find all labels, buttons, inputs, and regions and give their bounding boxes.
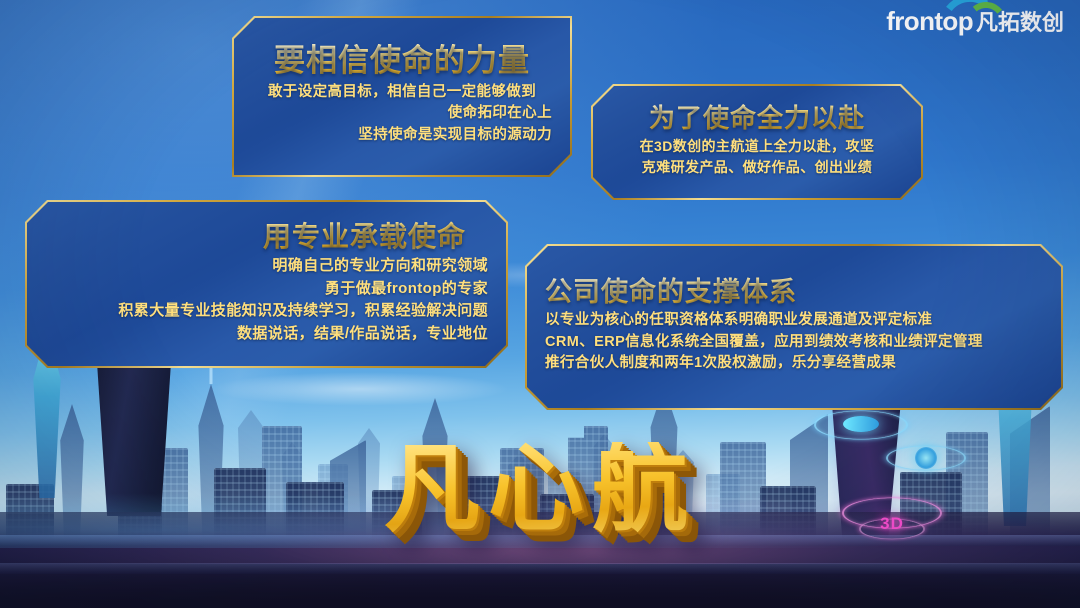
hero-title: 凡心航: [0, 442, 1080, 538]
panel-body-line: 以专业为核心的任职资格体系明确职业发展通道及评定标准: [545, 310, 1043, 332]
panel-body-line: 使命拓印在心上: [252, 103, 552, 125]
slide-canvas: AI 3D 凡心航 要相信使命的力量 敢于设定高目标，相信自己一定能够做到 使命…: [0, 0, 1080, 608]
panel-professionalism[interactable]: 用专业承载使命 明确自己的专业方向和研究领域 勇于做最frontop的专家 积累…: [25, 200, 508, 368]
panel-body-line: 积累大量专业技能知识及持续学习，积累经验解决问题: [45, 300, 488, 323]
panel-title: 为了使命全力以赴: [611, 104, 903, 133]
panel-title: 用专业承载使命: [45, 221, 488, 252]
panel-body-line: 坚持使命是实现目标的源动力: [252, 125, 552, 147]
panel-body-line: 推行合伙人制度和两年1次股权激励，乐分享经营成果: [545, 353, 1043, 375]
panel-support-system[interactable]: 公司使命的支撑体系 以专业为核心的任职资格体系明确职业发展通道及评定标准 CRM…: [525, 244, 1063, 410]
panel-body-line: 在3D数创的主航道上全力以赴，攻坚: [611, 136, 903, 157]
panel-title: 要相信使命的力量: [252, 44, 552, 79]
panel-body-line: CRM、ERP信息化系统全国覆盖，应用到绩效考核和业绩评定管理: [545, 332, 1043, 354]
panel-believe-in-mission[interactable]: 要相信使命的力量 敢于设定高目标，相信自己一定能够做到 使命拓印在心上 坚持使命…: [232, 16, 572, 177]
panel-body-line: 克难研发产品、做好作品、创出业绩: [611, 157, 903, 178]
panel-title: 公司使命的支撑体系: [545, 277, 1043, 307]
panel-go-all-out[interactable]: 为了使命全力以赴 在3D数创的主航道上全力以赴，攻坚 克难研发产品、做好作品、创…: [591, 84, 923, 200]
panel-body-line: 勇于做最frontop的专家: [45, 278, 488, 301]
bottom-fade: [0, 562, 1080, 608]
panel-body-line: 数据说话，结果/作品说话，专业地位: [45, 323, 488, 346]
drone-core-icon: [843, 416, 879, 432]
panel-body-line: 明确自己的专业方向和研究领域: [45, 255, 488, 278]
brand-logo[interactable]: frontop 凡拓数创: [886, 8, 1064, 34]
panel-body-line: 敢于设定高目标，相信自己一定能够做到: [252, 82, 552, 104]
